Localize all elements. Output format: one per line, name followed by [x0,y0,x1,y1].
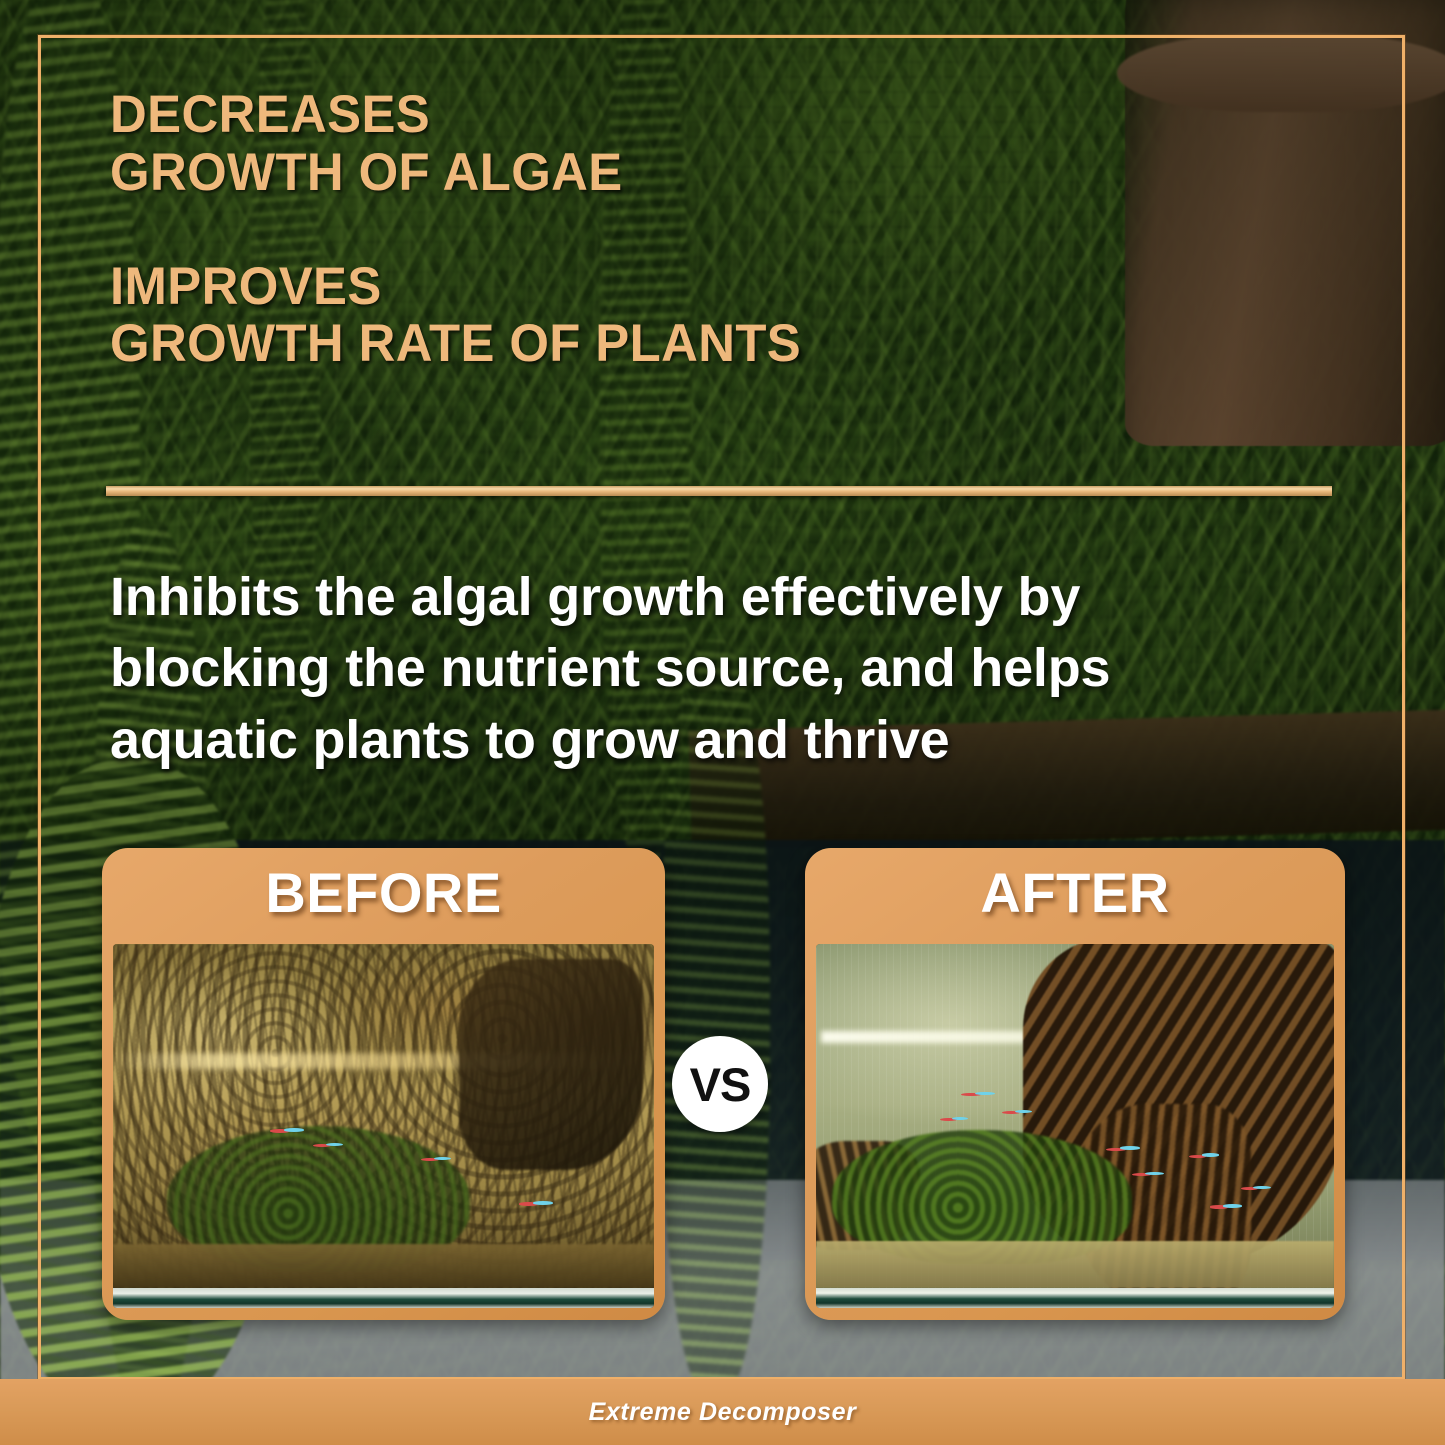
product-name: Extreme Decomposer [589,1398,857,1427]
footer-bar: Extreme Decomposer [0,1379,1445,1445]
vs-badge: VS [672,1036,768,1132]
after-substrate [816,1241,1334,1288]
vs-label: VS [690,1061,751,1108]
description-line-2: blocking the nutrient source, and helps [110,633,1330,704]
description-line-1: Inhibits the algal growth effectively by [110,562,1330,633]
fish [519,1199,553,1209]
after-aquarium-photo [816,944,1334,1308]
fish [961,1090,995,1100]
before-label: BEFORE [102,860,665,925]
before-substrate [113,1244,654,1288]
fish [270,1126,304,1136]
before-driftwood [459,959,643,1170]
headline-line-1: DECREASES [110,86,1070,144]
gold-divider-line [106,486,1332,496]
headline-block-plants: IMPROVES GROWTH RATE OF PLANTS [110,258,1070,374]
fish [1002,1108,1032,1117]
after-tank-rim [816,1288,1334,1308]
description-text: Inhibits the algal growth effectively by… [110,562,1330,776]
promo-image-root: DECREASES GROWTH OF ALGAE IMPROVES GROWT… [0,0,1445,1445]
headline-block-algae: DECREASES GROWTH OF ALGAE [110,86,1070,202]
headline-line-4: GROWTH RATE OF PLANTS [110,315,1070,373]
page-title: DECREASES GROWTH OF ALGAE IMPROVES GROWT… [110,86,1070,373]
before-aquarium-photo [113,944,654,1308]
headline-line-2: GROWTH OF ALGAE [110,144,1070,202]
fish [1132,1170,1164,1179]
after-card: AFTER [805,848,1345,1320]
before-card: BEFORE [102,848,665,1320]
headline-line-3: IMPROVES [110,258,1070,316]
after-label: AFTER [805,860,1345,925]
fish [313,1141,343,1150]
before-tank-rim [113,1288,654,1308]
description-line-3: aquatic plants to grow and thrive [110,705,1330,776]
